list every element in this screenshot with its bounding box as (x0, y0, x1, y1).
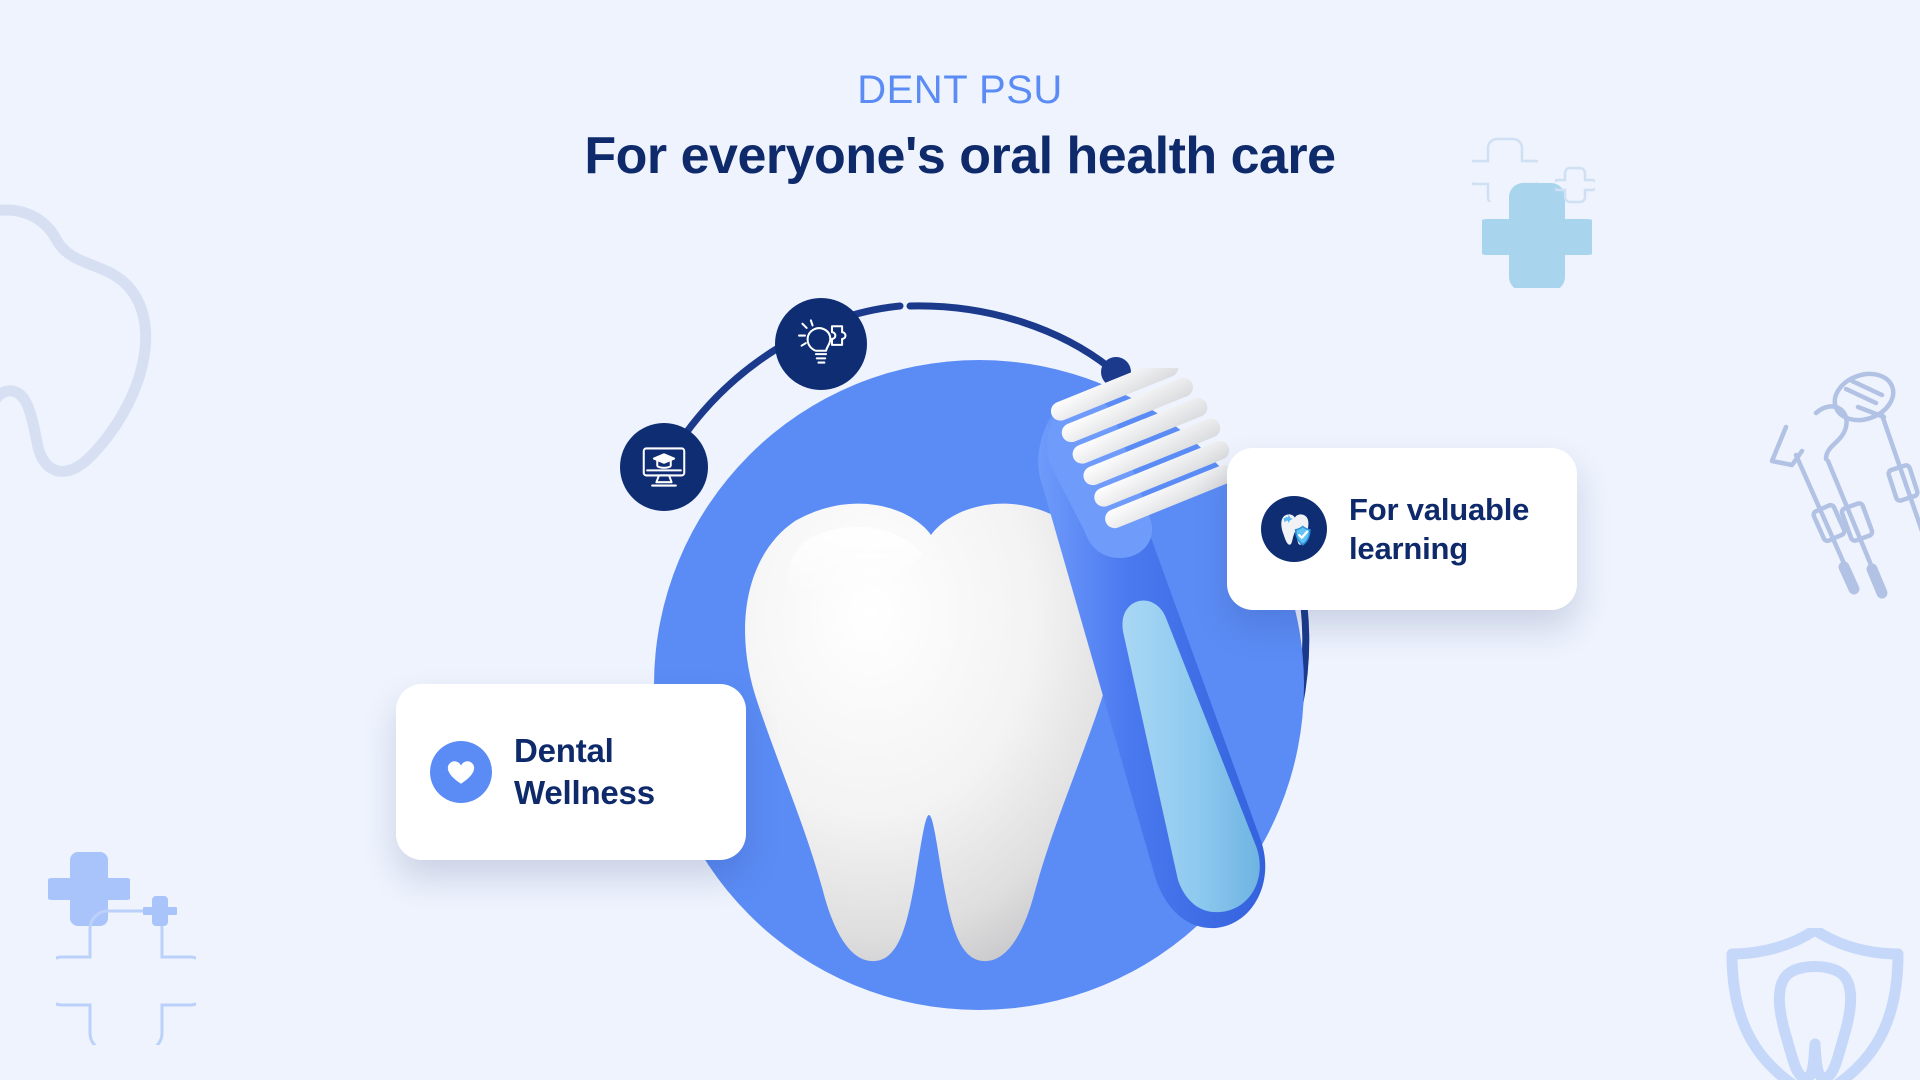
card-title-line-1: Dental (514, 732, 614, 769)
card-valuable-learning[interactable]: For valuable learning (1227, 448, 1577, 610)
e-learning-monitor-icon[interactable] (620, 423, 708, 511)
card-title-line-1: For valuable (1349, 492, 1529, 527)
page-title: For everyone's oral health care (0, 128, 1920, 185)
brand-eyebrow: DENT PSU (0, 68, 1920, 112)
card-title: For valuable learning (1349, 490, 1529, 568)
page-header: DENT PSU For everyone's oral health care (0, 68, 1920, 185)
heart-icon (430, 741, 492, 803)
monitor-graduation-cap-icon (637, 440, 691, 494)
lightbulb-puzzle-icon (794, 317, 848, 371)
card-dental-wellness[interactable]: Dental Wellness (396, 684, 746, 860)
idea-bulb-puzzle-icon[interactable] (775, 298, 867, 390)
card-title: Dental Wellness (514, 730, 655, 813)
card-title-line-2: learning (1349, 531, 1468, 566)
tooth-shield-check-icon (1261, 496, 1327, 562)
card-title-line-2: Wellness (514, 774, 655, 811)
